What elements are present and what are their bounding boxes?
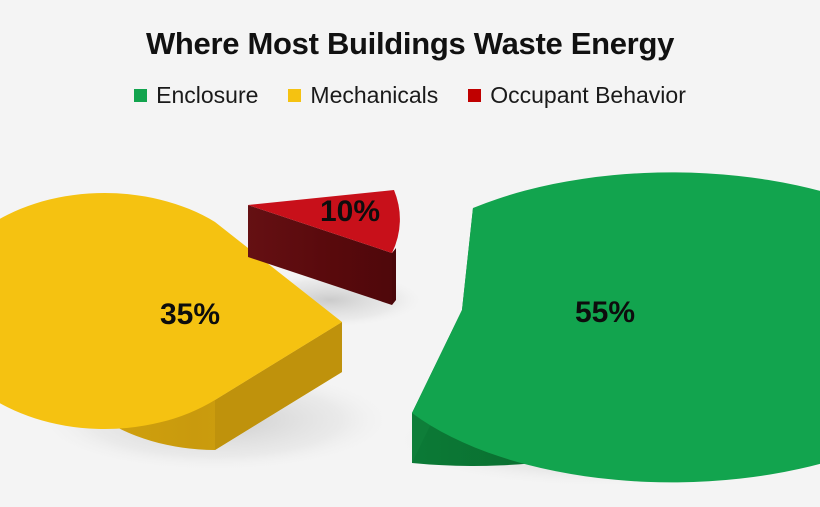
pie-chart-figure: Where Most Buildings Waste Energy Enclos… bbox=[0, 0, 820, 507]
pie-plot-area: 35% 10% 55% bbox=[0, 0, 820, 507]
slice-label-mechanicals: 35% bbox=[160, 298, 220, 331]
slice-label-occupant-behavior: 10% bbox=[320, 195, 380, 228]
slice-label-enclosure: 55% bbox=[575, 296, 635, 329]
pie-svg: 35% 10% 55% bbox=[0, 0, 820, 507]
occupant-flank bbox=[392, 248, 396, 305]
pie-slice-enclosure[interactable]: 55% bbox=[412, 172, 820, 482]
